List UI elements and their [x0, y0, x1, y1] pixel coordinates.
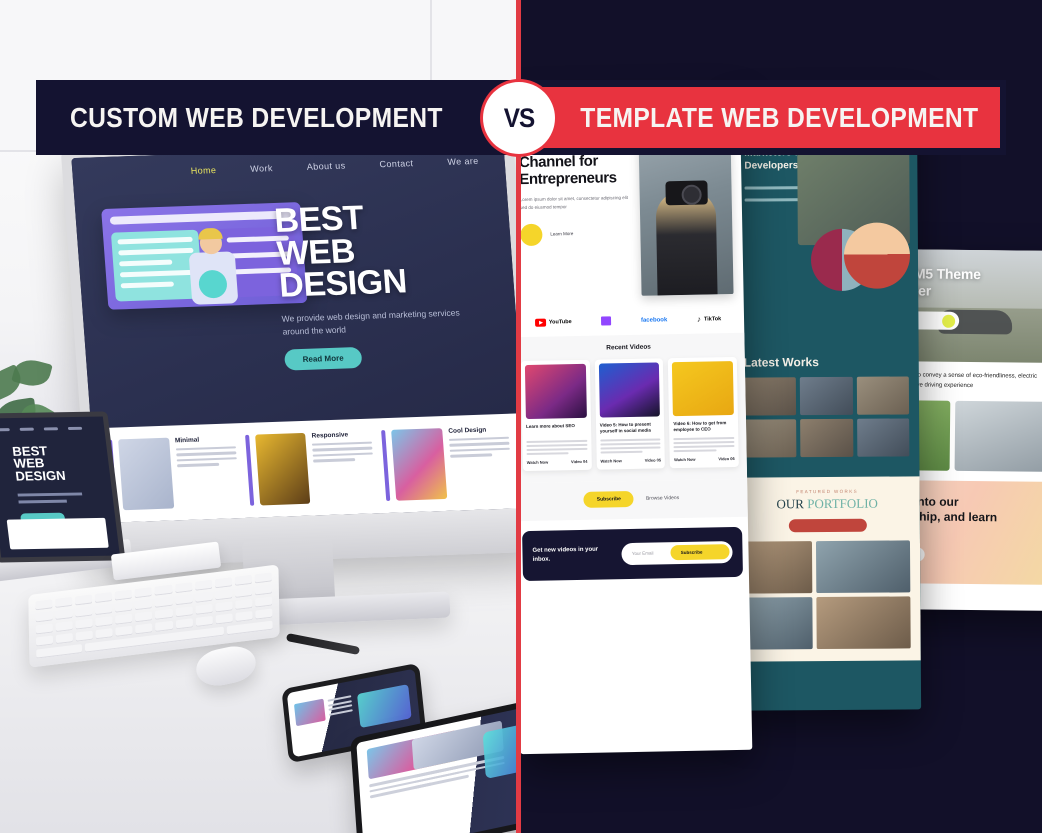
creator-photo — [639, 134, 734, 296]
video-card-action[interactable]: Watch Now — [600, 458, 621, 463]
video-card-badge: Video 04 — [571, 459, 587, 464]
video-card-badge: Video 05 — [645, 457, 661, 462]
video-card-title: Learn more about SEO — [526, 423, 587, 437]
newsletter-placeholder: Your Email — [632, 550, 671, 556]
hero-subtext: We provide web design and marketing serv… — [281, 306, 464, 338]
hero-title-line-3: DESIGN — [278, 263, 496, 303]
yt-hero-paragraph: Lorem ipsum dolor sit amet, consectetur … — [520, 194, 632, 211]
feature-cards: Minimal Responsive — [91, 413, 519, 523]
video-card-title: Video 5: How to present yourself in soci… — [600, 421, 661, 435]
read-more-button[interactable]: Read More — [284, 347, 362, 371]
video-card[interactable]: Learn more about SEO Watch Now Video 04 — [521, 360, 592, 471]
newsletter-email-input[interactable]: Your Email Subscribe — [622, 541, 733, 565]
laptop-mockup: BEST WEB DESIGN — [0, 411, 125, 562]
portfolio-kicker: FEATURED WORKS — [745, 488, 910, 494]
nav-item-work[interactable]: Work — [250, 163, 273, 174]
video-card-action[interactable]: Watch Now — [527, 459, 548, 464]
tiktok-logo[interactable]: ♪TikTok — [697, 314, 721, 323]
play-circle-icon[interactable] — [520, 223, 542, 245]
circle-decoration — [844, 222, 910, 288]
teal-works-title: Latest Works — [744, 354, 909, 369]
site-navigation[interactable]: Home Work About us Contact We are — [72, 155, 505, 180]
nav-item-contact[interactable]: Contact — [379, 158, 414, 169]
search-go-icon[interactable] — [942, 314, 955, 327]
youtube-creator-template[interactable]: Video Creator Home About Services Review… — [519, 90, 752, 754]
video-card-action[interactable]: Watch Now — [674, 457, 695, 462]
nav-item-home[interactable]: Home — [190, 165, 216, 176]
nav-item-about[interactable]: About us — [306, 161, 345, 172]
yt-learn-more-link[interactable]: Learn More — [550, 231, 573, 236]
camera-icon — [665, 180, 707, 205]
subscribe-button[interactable]: Subscribe — [584, 491, 634, 508]
video-card-badge: Video 06 — [718, 456, 734, 461]
comparison-graphic: Home Work About us Contact We are — [0, 0, 1042, 833]
banner-left-title: CUSTOM WEB DEVELOPMENT — [70, 102, 443, 134]
vs-badge: VS — [483, 82, 555, 154]
video-card[interactable]: Video 6: How to get from employee to CEO… — [668, 357, 739, 468]
portfolio-title-b: PORTFOLIO — [807, 496, 878, 511]
feature-card-title: Cool Design — [448, 426, 509, 435]
newsletter-panel: Get new videos in your inbox. Your Email… — [522, 527, 743, 581]
banner-left-band: CUSTOM WEB DEVELOPMENT — [36, 80, 520, 155]
feature-card-title: Minimal — [175, 435, 236, 444]
vs-label: VS — [504, 103, 535, 134]
feature-card[interactable]: Minimal — [108, 435, 240, 510]
imac-screen: Home Work About us Contact We are — [71, 143, 519, 523]
hero-content: BEST WEB DESIGN We provide web design an… — [273, 197, 501, 370]
yt-title-line-3: Entrepreneurs — [519, 170, 631, 189]
browse-videos-link[interactable]: Browse Videos — [646, 495, 679, 502]
feature-card[interactable]: Cool Design — [381, 426, 513, 501]
video-card[interactable]: Video 5: How to present yourself in soci… — [594, 358, 665, 469]
facebook-label: facebook — [641, 317, 667, 324]
tiktok-label: TikTok — [704, 316, 721, 322]
newsletter-text: Get new videos in your inbox. — [532, 546, 614, 564]
facebook-logo[interactable]: facebook — [641, 317, 667, 324]
feature-card-title: Responsive — [311, 430, 372, 439]
banner-right-title: TEMPLATE WEB DEVELOPMENT — [580, 102, 978, 134]
portfolio-title-a: OUR — [776, 496, 807, 511]
recent-videos-title: Recent Videos — [521, 342, 737, 353]
teal-agency-template[interactable]: Creative And Ideas Of Marketers and Deve… — [732, 94, 921, 710]
social-logos-row: YouTube facebook ♪TikTok — [519, 304, 744, 337]
nav-item-weare[interactable]: We are — [447, 156, 479, 167]
imac-mockup: Home Work About us Contact We are — [61, 133, 519, 568]
youtube-label: YouTube — [549, 319, 572, 325]
portfolio-button[interactable] — [788, 519, 866, 533]
feature-card[interactable]: Responsive — [245, 430, 377, 505]
video-card-title: Video 6: How to get from employee to CEO — [673, 420, 734, 434]
newsletter-subscribe-button[interactable]: Subscribe — [671, 544, 730, 560]
works-grid — [744, 376, 910, 457]
twitch-logo[interactable] — [601, 316, 611, 325]
videos-actions: Subscribe Browse Videos — [519, 479, 748, 521]
recent-videos-section: Recent Videos Learn more about SEO Watch… — [519, 333, 747, 483]
banner-right-band: TEMPLATE WEB DEVELOPMENT — [519, 80, 1006, 155]
character-illustration — [173, 225, 251, 313]
portfolio-grid — [745, 540, 911, 649]
laptop-title-line-3: DESIGN — [15, 470, 67, 483]
portfolio-section: FEATURED WORKS OUR PORTFOLIO — [735, 476, 921, 661]
youtube-logo[interactable]: YouTube — [535, 318, 572, 327]
